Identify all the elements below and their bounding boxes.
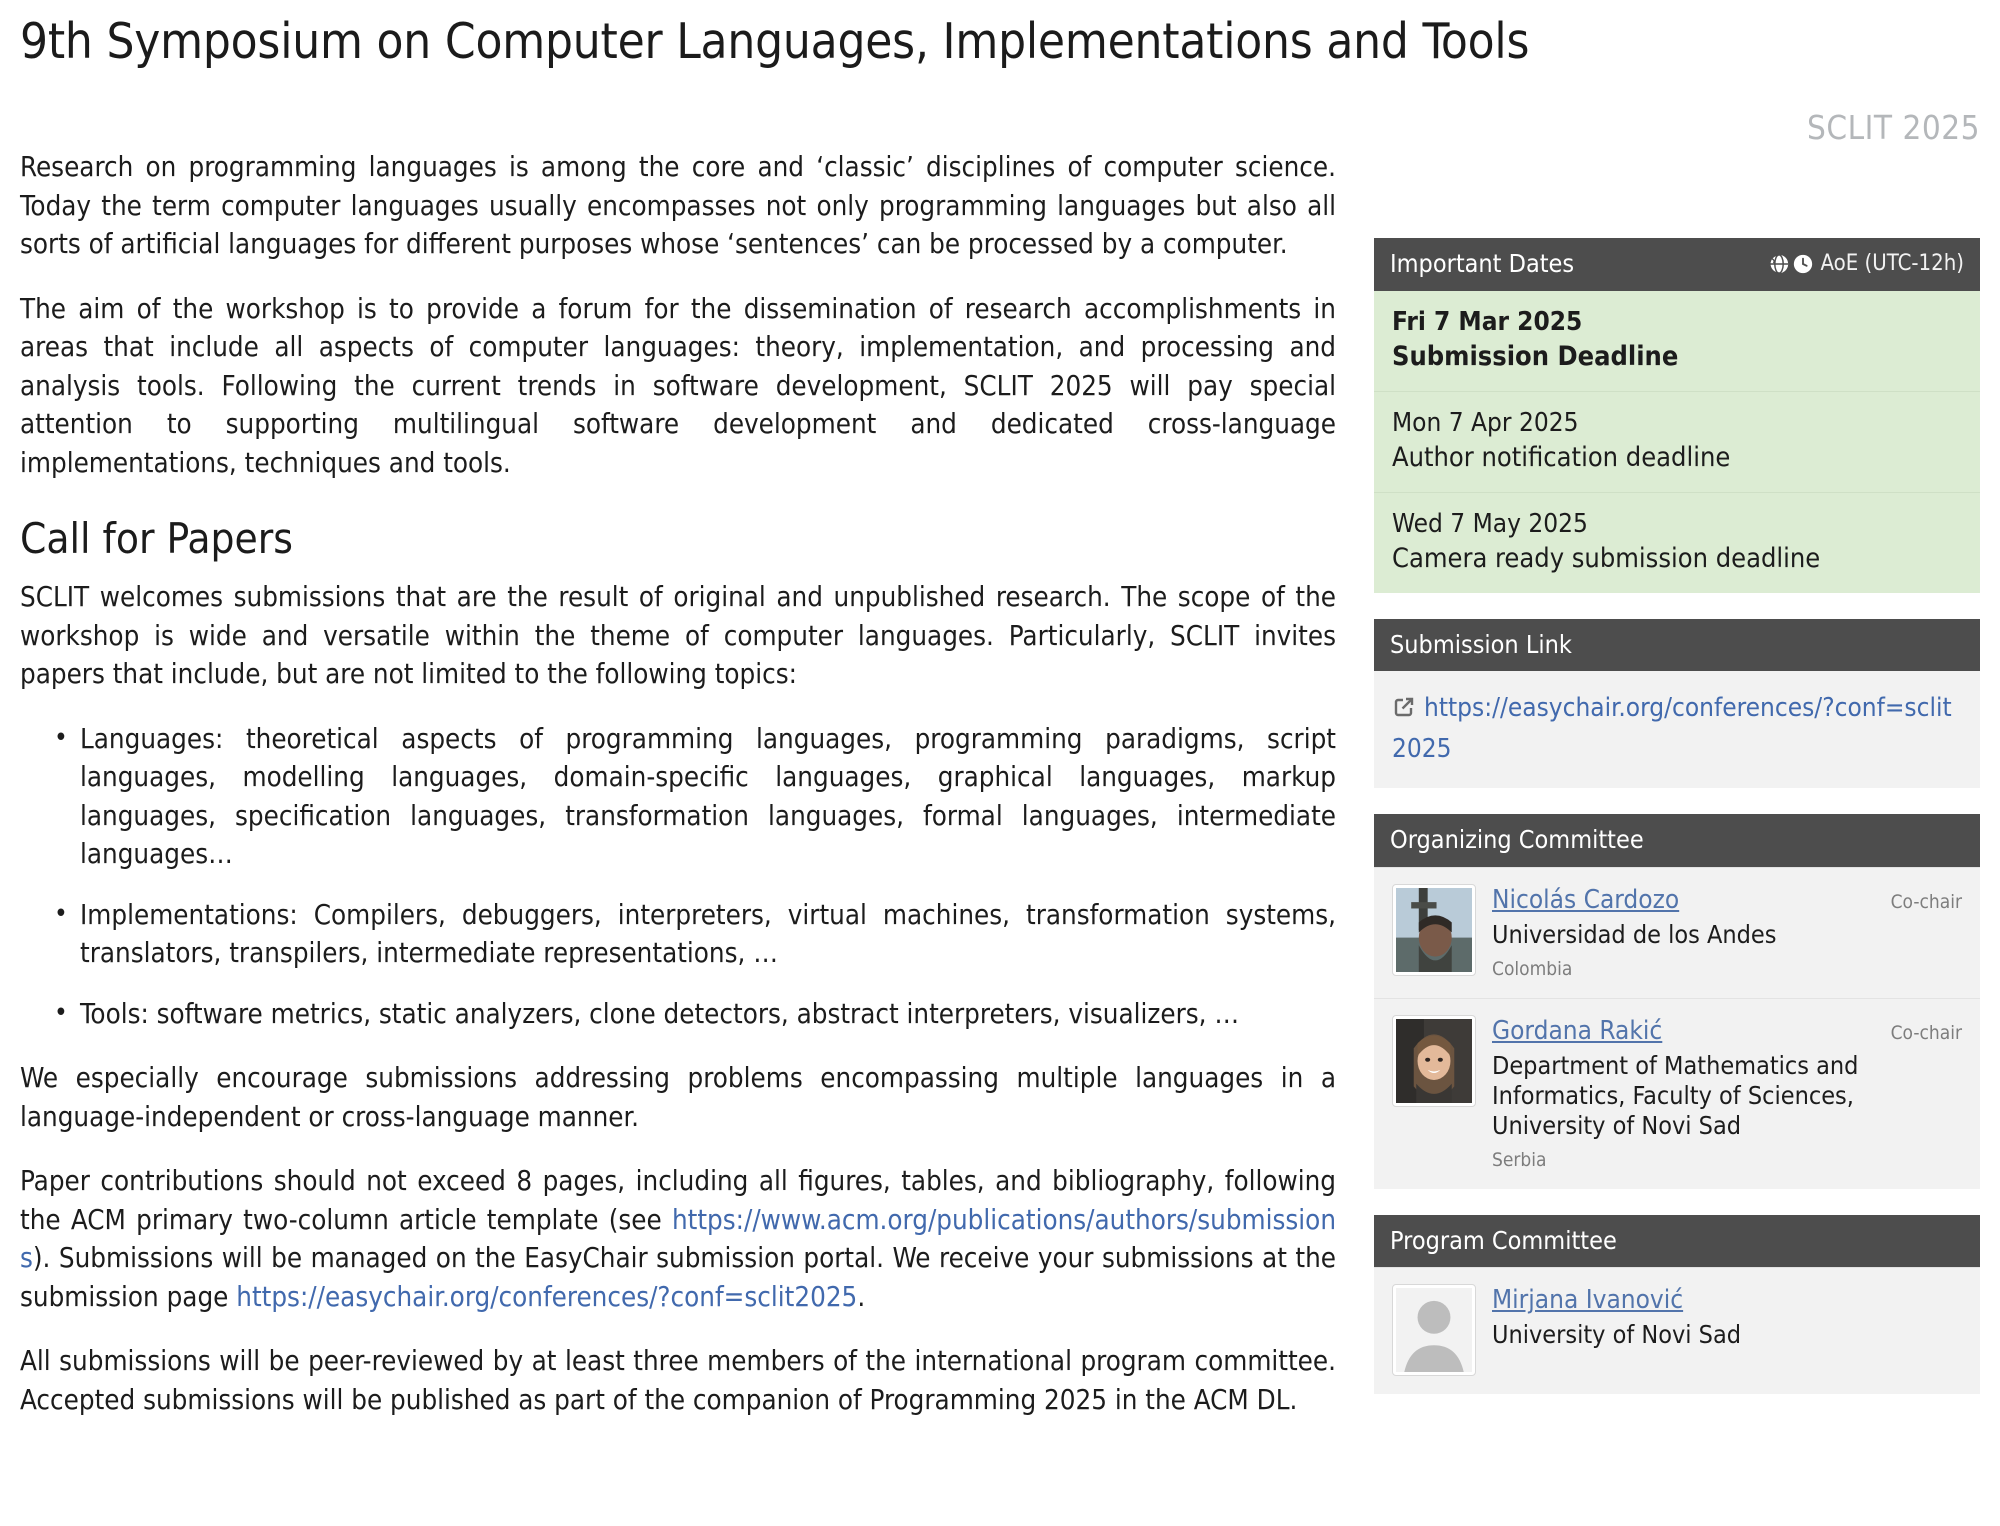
submission-link-title: Submission Link <box>1390 631 1572 659</box>
edition-label: SCLIT 2025 <box>1807 108 1980 147</box>
list-item: Mirjana Ivanović University of Novi Sad <box>1374 1267 1980 1394</box>
program-committee-header: Program Committee <box>1374 1215 1980 1268</box>
date-description: Camera ready submission deadline <box>1392 541 1962 577</box>
member-info: Gordana Rakić Co-chair Department of Mat… <box>1492 1015 1962 1171</box>
sidebar: Important Dates <box>1374 238 1980 1420</box>
topics-list: Languages: theoretical aspects of progra… <box>20 720 1336 1034</box>
member-role: Co-chair <box>1891 1022 1962 1044</box>
review-paragraph: All submissions will be peer-reviewed by… <box>20 1342 1336 1419</box>
encourage-paragraph: We especially encourage submissions addr… <box>20 1059 1336 1136</box>
member-info: Nicolás Cardozo Co-chair Universidad de … <box>1492 884 1962 980</box>
globe-icon <box>1768 253 1790 275</box>
member-affiliation: Department of Mathematics and Informatic… <box>1492 1051 1962 1141</box>
date-value: Mon 7 Apr 2025 <box>1392 406 1962 440</box>
avatar <box>1392 1015 1476 1107</box>
main-content: Research on programming languages is amo… <box>20 148 1336 1445</box>
timezone-icons <box>1768 253 1814 275</box>
photo-rakic <box>1396 1019 1472 1103</box>
member-name-link[interactable]: Mirjana Ivanović <box>1492 1284 1683 1316</box>
avatar <box>1392 884 1476 976</box>
easychair-inline-link[interactable]: https://easychair.org/conferences/?conf=… <box>236 1281 857 1313</box>
member-country: Colombia <box>1492 958 1962 980</box>
contributions-paragraph: Paper contributions should not exceed 8 … <box>20 1162 1336 1316</box>
list-item: Nicolás Cardozo Co-chair Universidad de … <box>1374 867 1980 998</box>
call-for-papers-heading: Call for Papers <box>20 516 1336 562</box>
list-item: Tools: software metrics, static analyzer… <box>80 995 1336 1034</box>
member-top-row: Nicolás Cardozo Co-chair <box>1492 884 1962 916</box>
cfp-intro-paragraph: SCLIT welcomes submissions that are the … <box>20 578 1336 694</box>
intro-paragraph: Research on programming languages is amo… <box>20 148 1336 264</box>
clock-icon <box>1792 253 1814 275</box>
list-item: Implementations: Compilers, debuggers, i… <box>80 896 1336 973</box>
date-value: Wed 7 May 2025 <box>1392 507 1962 541</box>
timezone-label: AoE (UTC-12h) <box>1821 252 1964 276</box>
program-committee-title: Program Committee <box>1390 1227 1617 1255</box>
member-role: Co-chair <box>1891 891 1962 913</box>
submission-link-panel: Submission Link https://easychair.org/co… <box>1374 619 1980 789</box>
contributions-text-3: . <box>857 1281 865 1313</box>
important-dates-title: Important Dates <box>1390 250 1574 278</box>
member-info: Mirjana Ivanović University of Novi Sad <box>1492 1284 1962 1376</box>
list-item: Gordana Rakić Co-chair Department of Mat… <box>1374 998 1980 1189</box>
submission-link-row: https://easychair.org/conferences/?conf=… <box>1392 689 1962 768</box>
conference-page: 9th Symposium on Computer Languages, Imp… <box>0 0 2000 1526</box>
date-row: Mon 7 Apr 2025 Author notification deadl… <box>1374 391 1980 492</box>
member-affiliation: Universidad de los Andes <box>1492 920 1962 950</box>
date-row: Fri 7 Mar 2025 Submission Deadline <box>1374 291 1980 391</box>
date-description: Author notification deadline <box>1392 440 1962 476</box>
member-affiliation: University of Novi Sad <box>1492 1320 1962 1350</box>
timezone-indicator: AoE (UTC-12h) <box>1768 252 1964 276</box>
submission-link-body: https://easychair.org/conferences/?conf=… <box>1374 671 1980 788</box>
external-link-icon <box>1392 692 1416 730</box>
submission-link-header: Submission Link <box>1374 619 1980 672</box>
date-row: Wed 7 May 2025 Camera ready submission d… <box>1374 492 1980 593</box>
organizing-committee-header: Organizing Committee <box>1374 814 1980 867</box>
member-name-link[interactable]: Nicolás Cardozo <box>1492 884 1679 916</box>
member-top-row: Mirjana Ivanović <box>1492 1284 1962 1316</box>
member-country: Serbia <box>1492 1149 1962 1171</box>
list-item: Languages: theoretical aspects of progra… <box>80 720 1336 874</box>
easychair-submission-link[interactable]: https://easychair.org/conferences/?conf=… <box>1392 693 1952 764</box>
organizing-committee-title: Organizing Committee <box>1390 826 1644 854</box>
date-description: Submission Deadline <box>1392 339 1962 375</box>
important-dates-body: Fri 7 Mar 2025 Submission Deadline Mon 7… <box>1374 291 1980 593</box>
program-committee-panel: Program Committee Mirjana Ivanović <box>1374 1215 1980 1395</box>
date-value: Fri 7 Mar 2025 <box>1392 305 1962 339</box>
member-top-row: Gordana Rakić Co-chair <box>1492 1015 1962 1047</box>
placeholder-silhouette-icon <box>1396 1288 1472 1372</box>
important-dates-panel: Important Dates <box>1374 238 1980 593</box>
avatar <box>1392 1284 1476 1376</box>
important-dates-header: Important Dates <box>1374 238 1980 291</box>
member-name-link[interactable]: Gordana Rakić <box>1492 1015 1662 1047</box>
organizing-committee-panel: Organizing Committee <box>1374 814 1980 1189</box>
aim-paragraph: The aim of the workshop is to provide a … <box>20 290 1336 483</box>
photo-cardozo <box>1396 888 1472 972</box>
page-title: 9th Symposium on Computer Languages, Imp… <box>0 0 2000 70</box>
